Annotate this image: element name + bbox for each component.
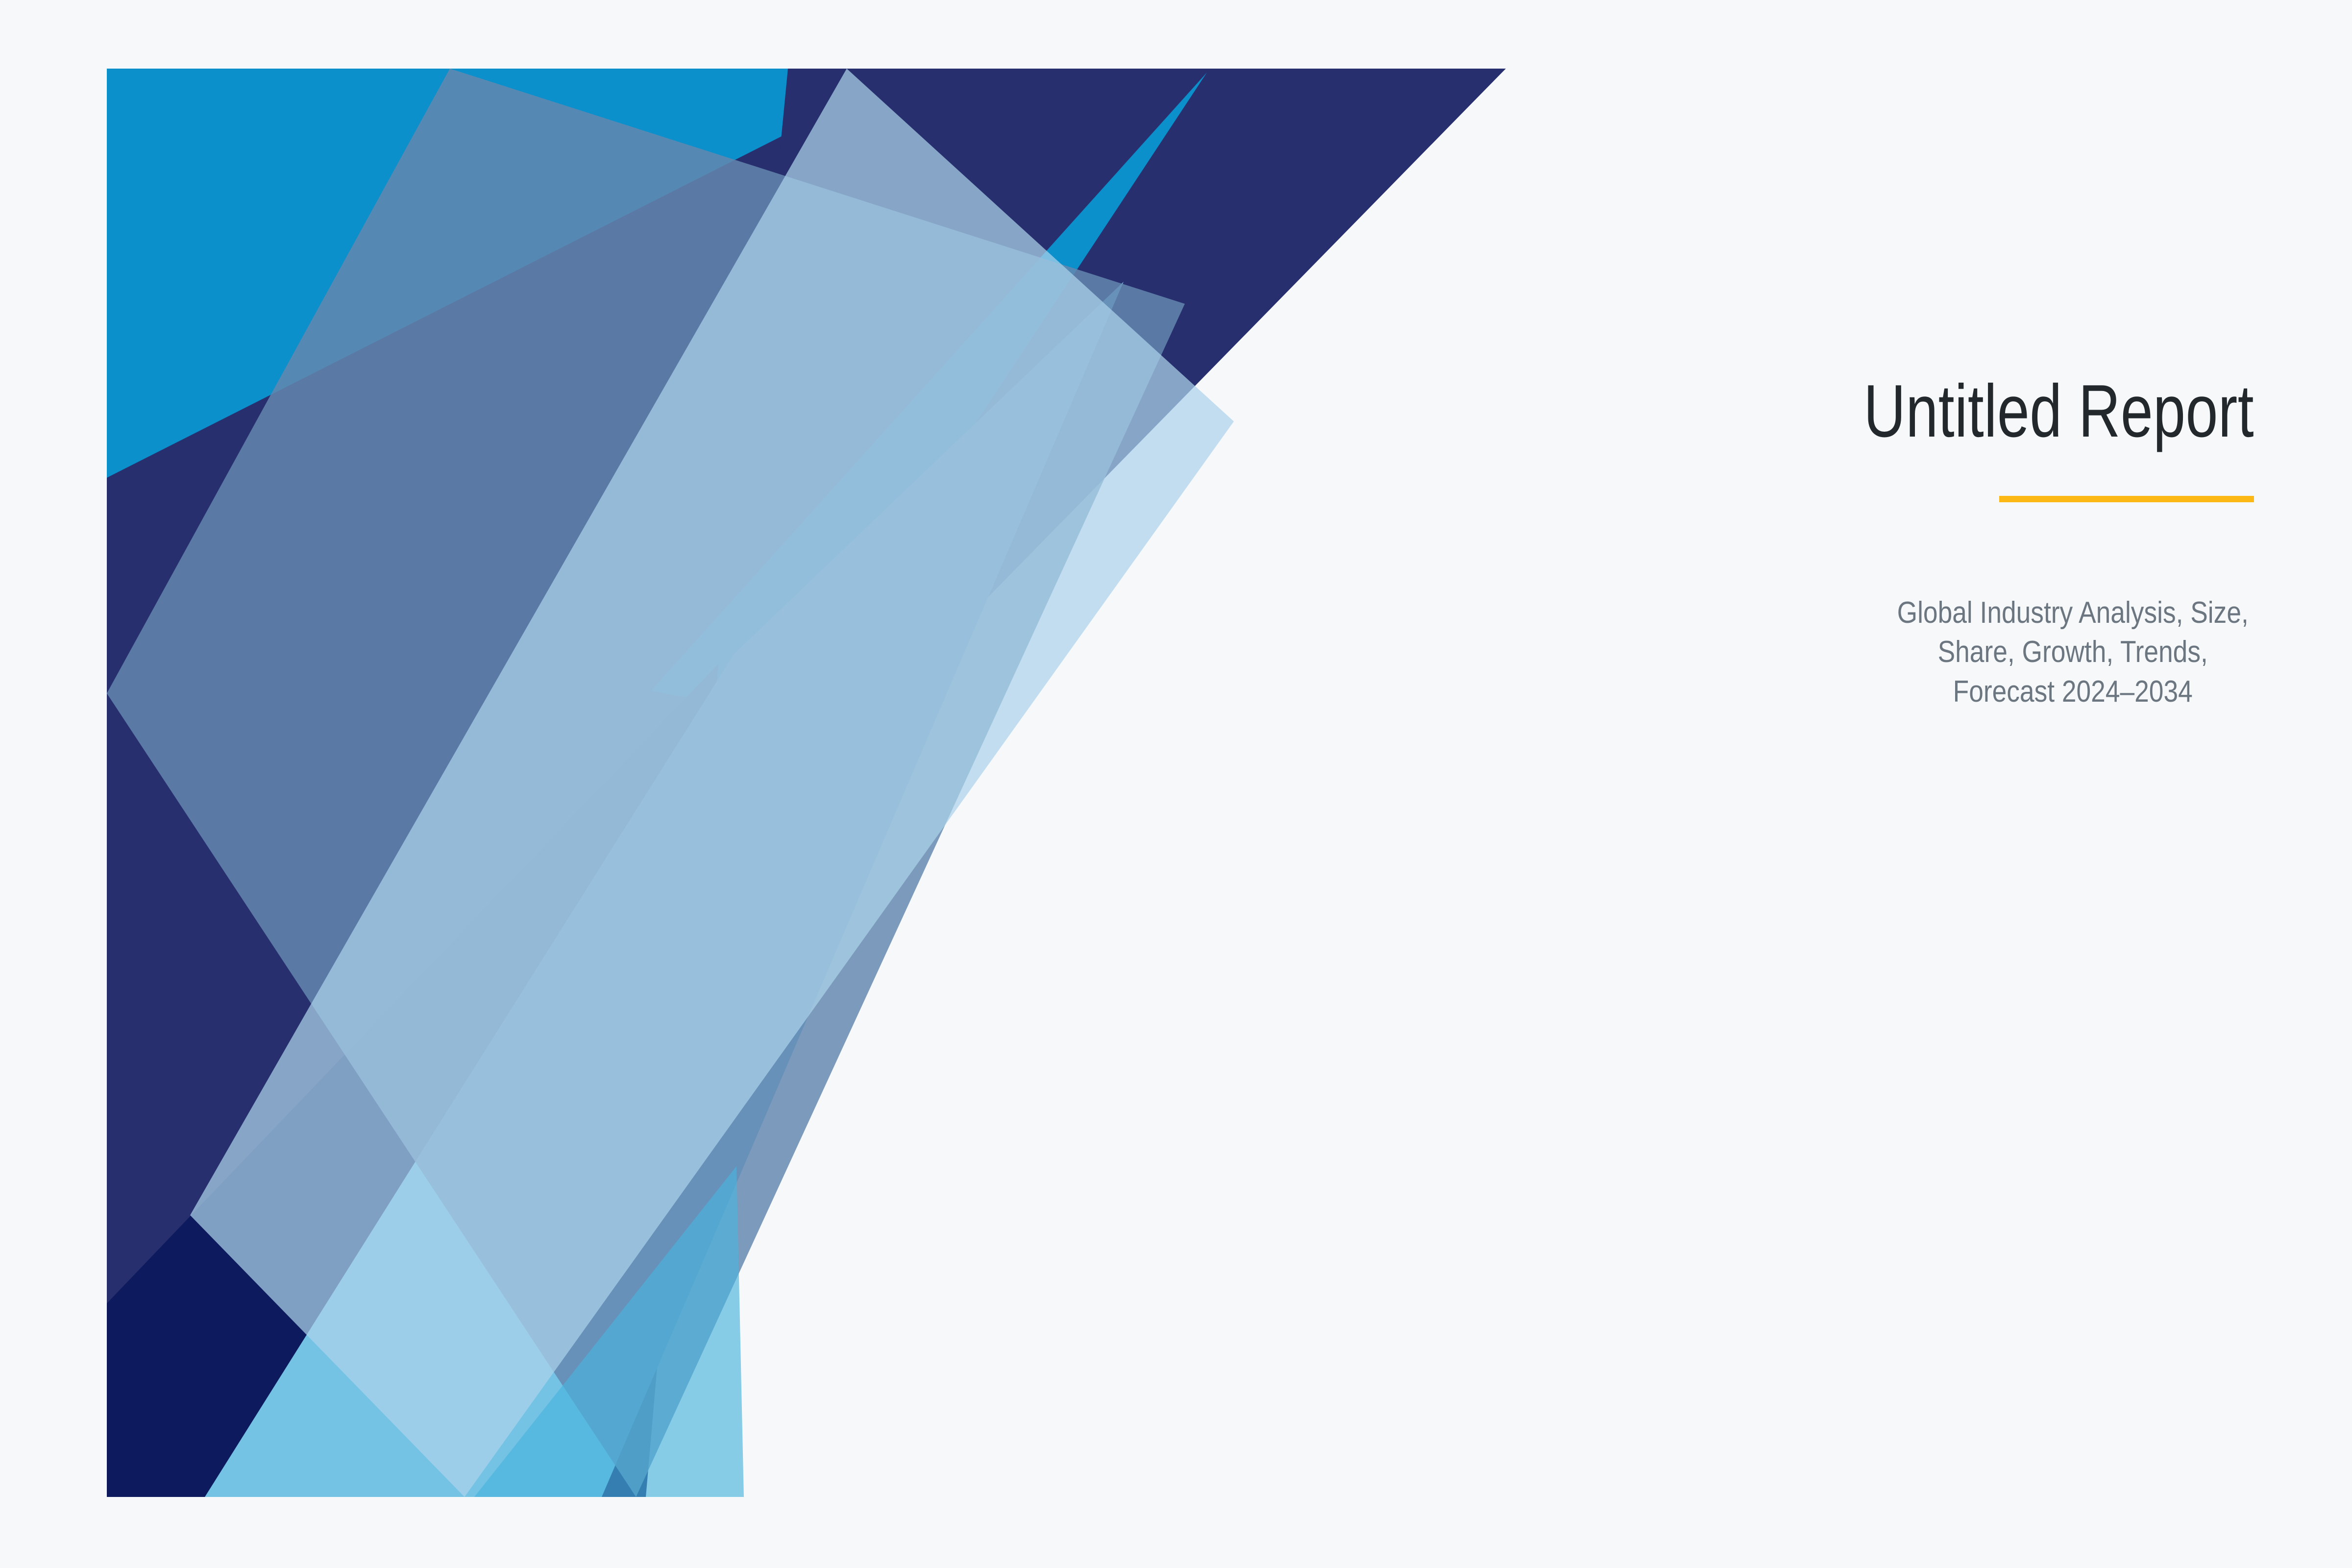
cover-text-column: Untitled Report Global Industry Analysis…	[1558, 372, 2254, 711]
cover-artwork	[107, 69, 1506, 1497]
abstract-geometric-cover-art	[107, 69, 1506, 1497]
report-subtitle: Global Industry Analysis, Size, Share, G…	[1891, 593, 2254, 712]
title-accent-rule	[1999, 496, 2254, 502]
report-cover: Untitled Report Global Industry Analysis…	[0, 0, 2352, 1568]
page-title: Untitled Report	[1711, 372, 2254, 451]
